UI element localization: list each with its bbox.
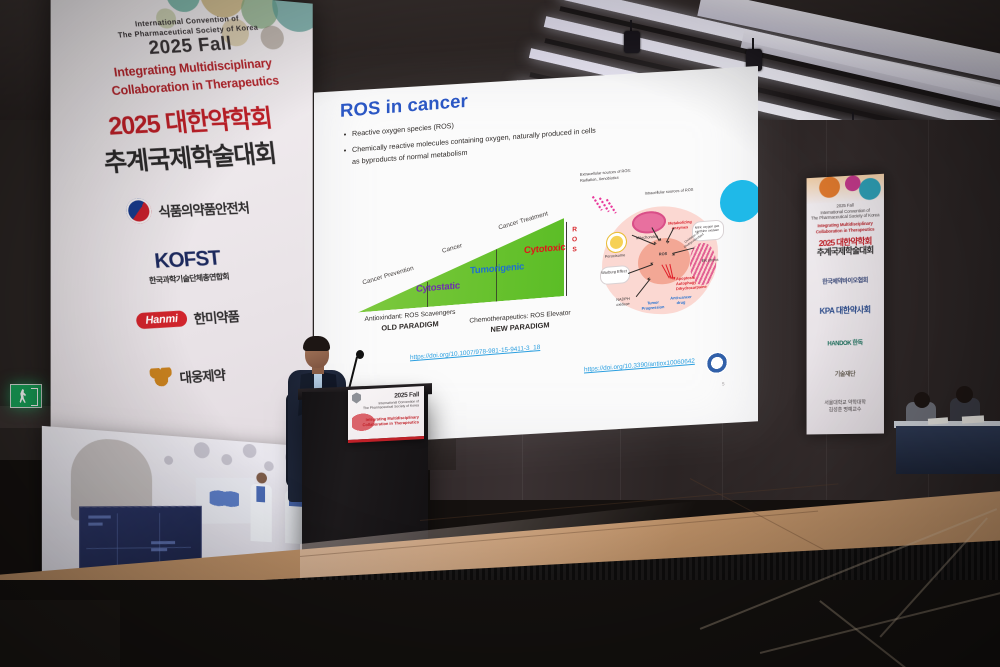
sponsor-hanmi-sub: 한미약품: [193, 305, 240, 328]
slide-doi-link-2[interactable]: https://doi.org/10.3390/antiox10060642: [584, 358, 695, 374]
microphone-head: [356, 350, 364, 359]
sponsor-kofst: KOFST 한국과학기술단체총연합회: [76, 243, 297, 290]
lungs-icon: [210, 485, 239, 513]
triangle-gradient-shape: [358, 218, 564, 312]
triangle-top-label-1: Cancer Prevention: [362, 265, 414, 287]
slide-content: ROS in cancer Reactive oxygen species (R…: [314, 31, 758, 446]
intracellular-title: Intracellular sources of ROS: [634, 187, 704, 197]
slide-bullet-1: Reactive oxygen species (ROS): [352, 121, 454, 140]
podium-sign: 2025 Fall International Convention ofThe…: [348, 386, 424, 443]
seated-person-head: [914, 392, 930, 408]
university-seal-logo: [706, 351, 728, 375]
cell-ros-diagram: Extracellular sources of ROS: Radiation,…: [582, 161, 732, 343]
door-icon: [31, 388, 38, 406]
seated-person-head: [956, 386, 973, 403]
hanmi-logo: Hanmi: [136, 310, 188, 329]
sponsor-daewoong: 대웅제약: [77, 359, 296, 394]
floor-foreground: [0, 600, 120, 667]
sponsor-handok: HANDOK 한독: [809, 337, 882, 348]
doctor-figure-shirt: [256, 486, 265, 502]
speaker-hair: [303, 336, 330, 351]
sponsor-hanmi: Hanmi 한미약품: [77, 302, 296, 335]
conference-banner-right: 2025 Fall International Convention of Th…: [807, 174, 884, 435]
podium-sign-year: 2025 Fall: [394, 391, 419, 399]
floor-carpet: [0, 580, 1000, 667]
banner-right-korean-black: 추계국제학술대회: [809, 245, 882, 258]
banner-right-decoration: [807, 174, 884, 204]
sponsor-kofst-label: KOFST: [153, 247, 221, 274]
outcome-anticancer-drug: Anti-cancer drug: [666, 295, 696, 307]
sponsor-kpba: 한국제약바이오협회: [809, 275, 882, 287]
old-paradigm-caption: Antioxindant: ROS ScavengersOLD PARADIGM: [354, 308, 466, 337]
slide-doi-link-1[interactable]: https://doi.org/10.1007/978-981-15-9411-…: [410, 344, 540, 361]
sponsor-daewoong-label: 대웅제약: [178, 364, 225, 387]
sponsor-kfda-label: 식품의약품안전처: [157, 196, 250, 220]
slide-title: ROS in cancer: [340, 90, 468, 122]
wall-ledge: [0, 406, 56, 428]
society-crest-icon: [352, 392, 361, 403]
triangle-top-label-3: Cancer Treatment: [498, 210, 549, 231]
stage-spotlight: [624, 31, 640, 53]
conference-banner-left: International Convention of The Pharmace…: [51, 0, 313, 448]
label-nadph-oxidase: NADPH oxidase: [610, 296, 636, 308]
label-er-stress: ER stress: [698, 258, 722, 265]
doctor-figure-head: [256, 472, 267, 484]
ros-triangle-diagram: Cancer Prevention Cancer Cancer Treatmen…: [358, 217, 572, 326]
slide-page-number: 5: [722, 381, 725, 386]
kfda-taegeuk-icon: [125, 198, 153, 224]
daewoong-bear-icon: [150, 367, 174, 389]
banner-korean-title-red: 2025 대한약학회: [74, 103, 304, 143]
banner-english-heading: International Convention of The Pharmace…: [81, 11, 300, 100]
paper-document: [962, 415, 984, 423]
podium-sign-theme: Integrating MultidisciplinaryCollaborati…: [363, 414, 419, 427]
ros-axis-label: ROS: [572, 225, 577, 255]
conference-stage-photo: International Convention of The Pharmace…: [0, 0, 1000, 667]
podium-sign-lines: International Convention ofThe Pharmaceu…: [363, 399, 419, 411]
ros-axis-arrow: [566, 222, 567, 296]
banner-right-footer2: 김성훈 명예교수: [809, 406, 882, 414]
emergency-exit-sign: [10, 384, 42, 408]
running-person-icon: [19, 389, 27, 403]
sponsor-kfda: 식품의약품안전처: [77, 192, 297, 227]
triangle-top-label-2: Cancer: [441, 242, 462, 255]
panel-table: [896, 426, 1000, 474]
new-paradigm-caption: Chemotherapeutics: ROS ElevatorNEW PARAD…: [462, 309, 578, 338]
sponsor-foundation: 기술재단: [809, 368, 882, 379]
sponsor-kpa: KPA 대한약사회: [809, 304, 882, 318]
banner-korean-title-black: 추계국제학술대회: [72, 138, 306, 179]
